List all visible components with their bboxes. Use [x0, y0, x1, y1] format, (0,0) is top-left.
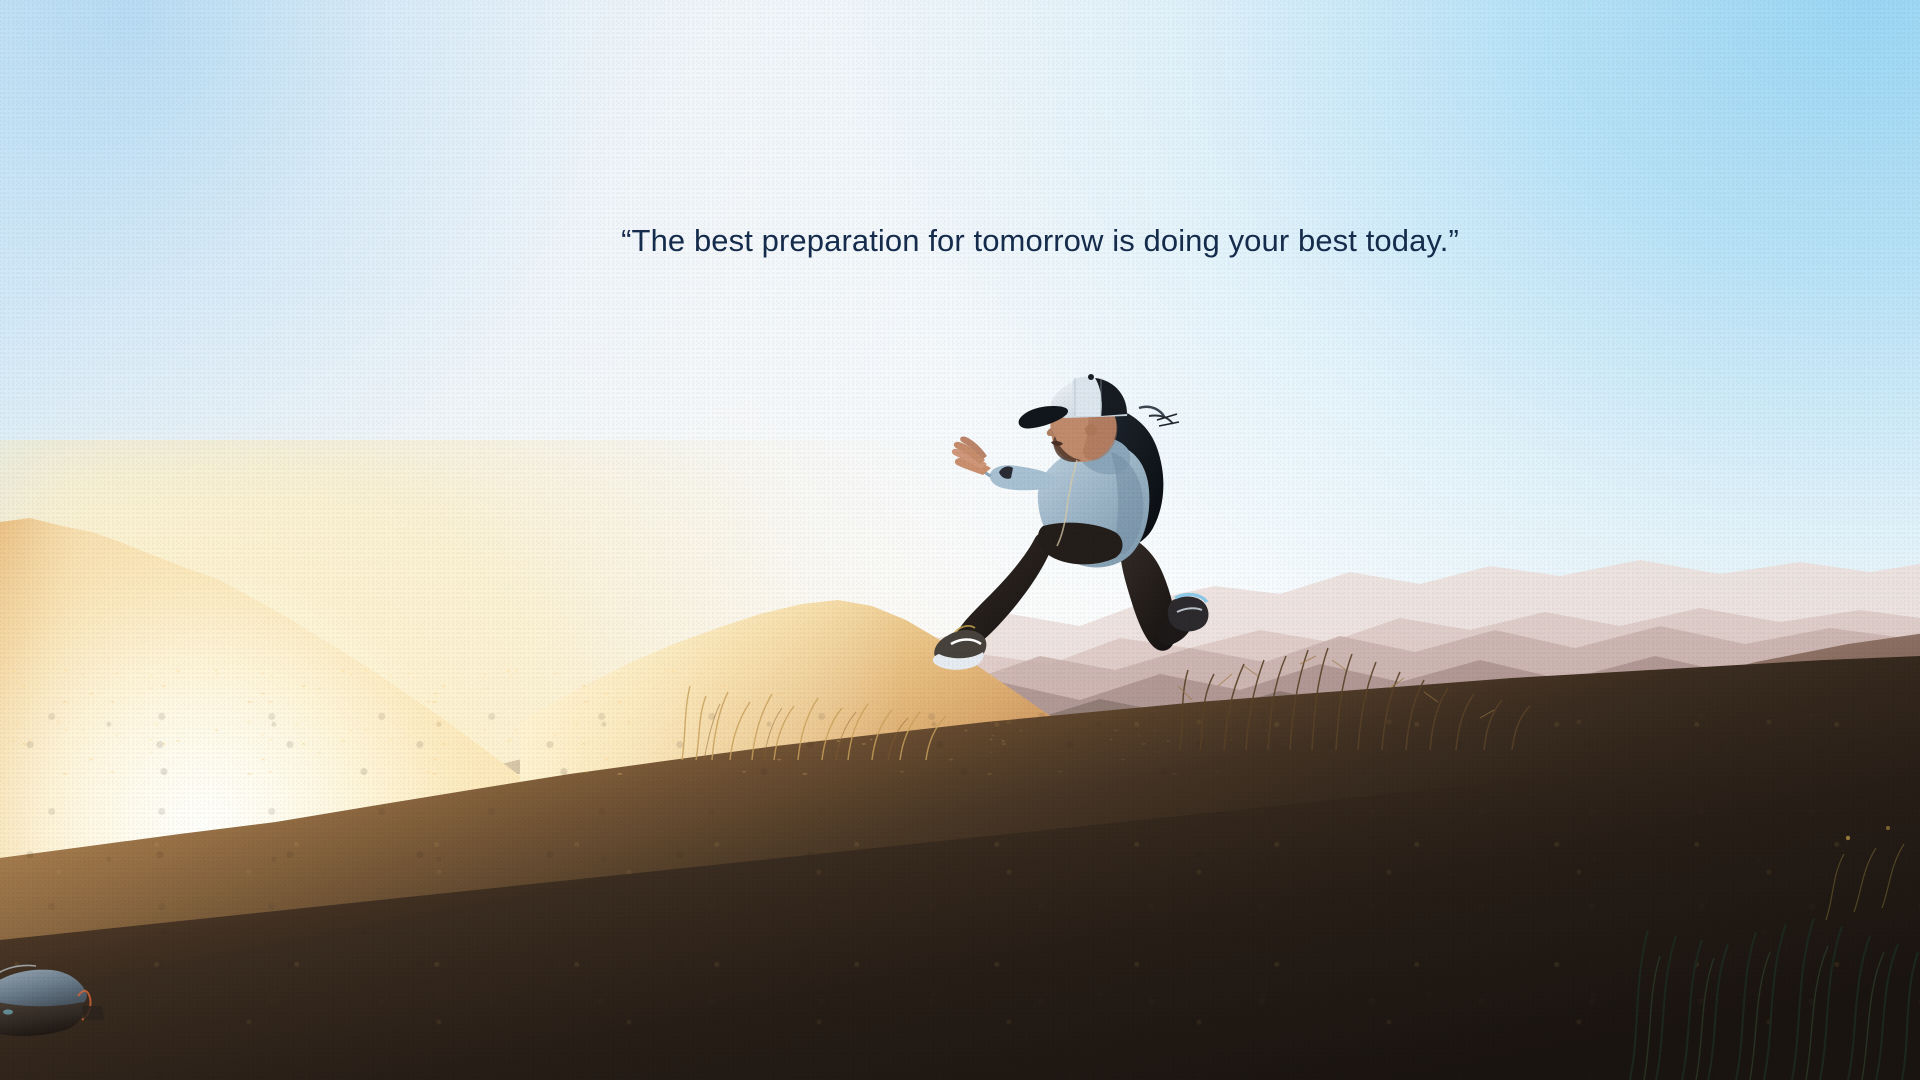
dry-grass-left: [660, 650, 960, 760]
grass-patch-right: [1590, 780, 1920, 1080]
quote-text: “The best preparation for tomorrow is do…: [621, 222, 1459, 261]
quote-overlay: “The best preparation for tomorrow is do…: [0, 222, 1920, 261]
duffel-bag: [0, 950, 120, 1040]
hero-scene: “The best preparation for tomorrow is do…: [0, 0, 1920, 1080]
jumping-runner: [925, 348, 1215, 678]
